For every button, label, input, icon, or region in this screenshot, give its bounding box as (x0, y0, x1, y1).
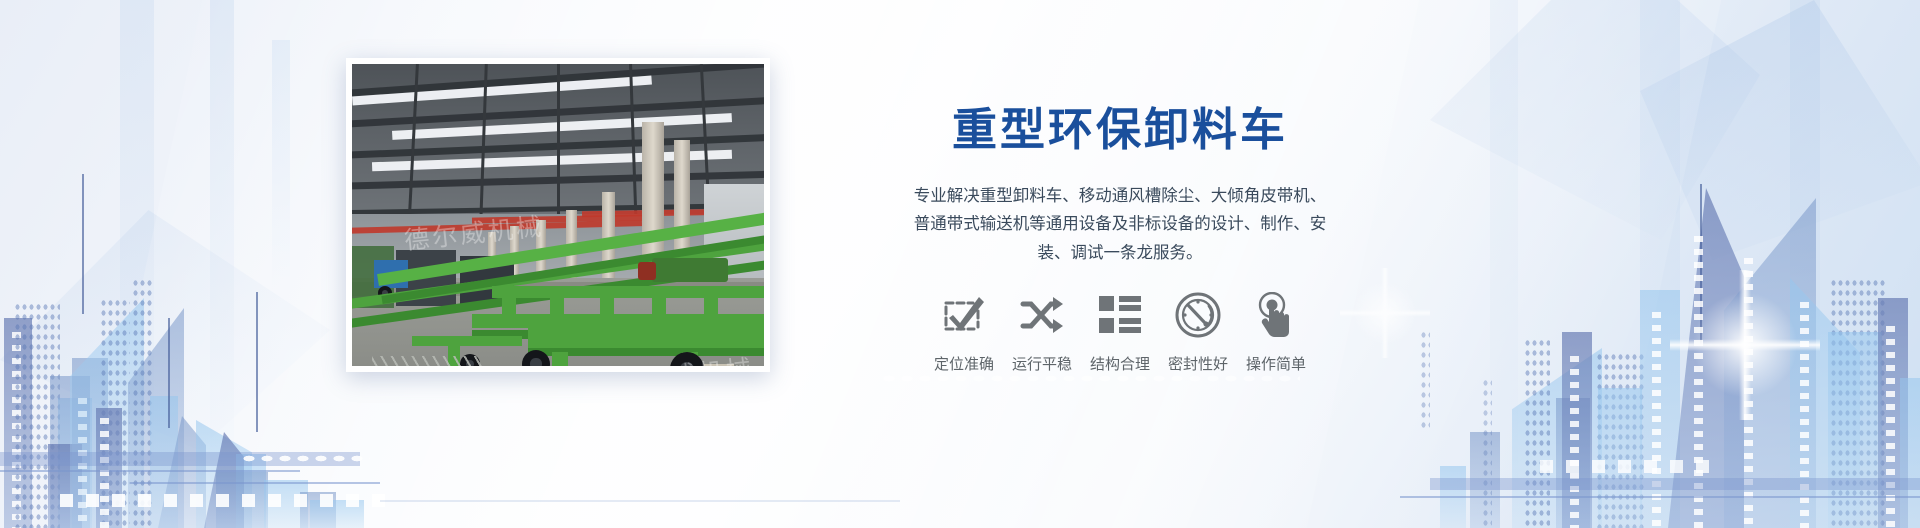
banner-description: 专业解决重型卸料车、移动通风槽除尘、大倾角皮带机、普通带式输送机等通用设备及非标… (910, 182, 1330, 267)
feature-label: 密封性好 (1168, 353, 1228, 374)
feature-item-simple-operation[interactable]: 操作简单 (1237, 289, 1315, 374)
page-title: 重型环保卸料车 (800, 104, 1440, 156)
feature-item-accurate-positioning[interactable]: 定位准确 (925, 289, 1003, 374)
product-photo-frame: 德尔威机械 德尔威机械 (346, 58, 770, 372)
feature-label: 定位准确 (934, 353, 994, 374)
shuffle-arrows-icon (1020, 289, 1064, 341)
banner-content: 重型环保卸料车 专业解决重型卸料车、移动通风槽除尘、大倾角皮带机、普通带式输送机… (800, 0, 1440, 528)
feature-label: 运行平稳 (1012, 353, 1072, 374)
gauge-dial-icon (1175, 289, 1221, 341)
hero-banner: 德尔威机械 德尔威机械 重型环保卸料车 专业解决重型卸料车、移动通风槽除尘、大倾… (0, 0, 1920, 528)
product-photo: 德尔威机械 德尔威机械 (352, 64, 764, 366)
hand-touch-icon (1255, 289, 1297, 341)
feature-label: 结构合理 (1090, 353, 1150, 374)
feature-list: 定位准确 运行平稳 (800, 289, 1440, 374)
layout-blocks-icon (1099, 289, 1141, 341)
checkbox-check-icon (942, 289, 986, 341)
feature-item-reasonable-structure[interactable]: 结构合理 (1081, 289, 1159, 374)
feature-item-smooth-operation[interactable]: 运行平稳 (1003, 289, 1081, 374)
feature-item-good-sealing[interactable]: 密封性好 (1159, 289, 1237, 374)
feature-label: 操作简单 (1246, 353, 1306, 374)
